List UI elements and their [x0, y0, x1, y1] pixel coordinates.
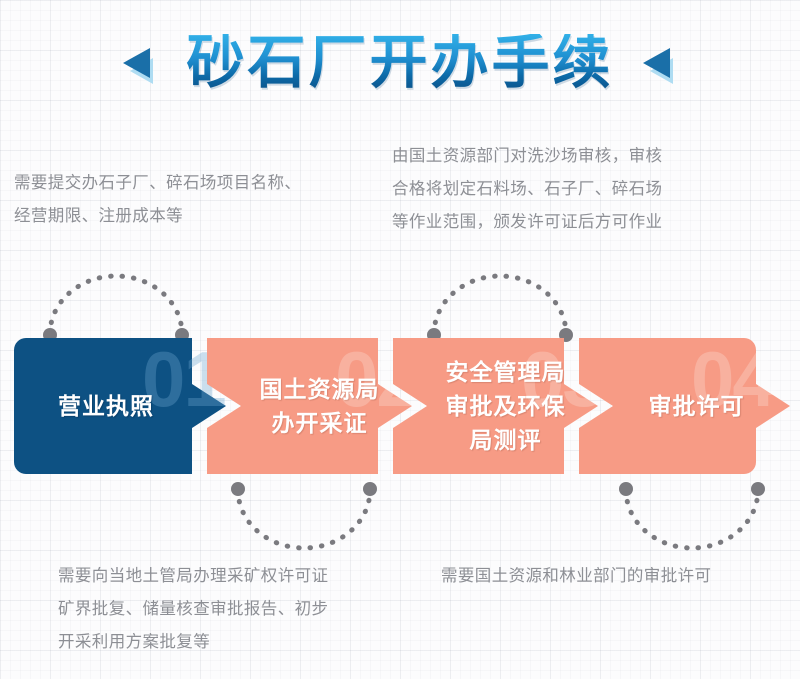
page-title: 砂石厂开办手续 [186, 34, 613, 92]
triangle-left-icon [120, 40, 160, 86]
process-step-3-label: 安全管理局 审批及环保 局测评 [416, 355, 576, 457]
triangle-left-icon-body [123, 48, 150, 78]
description-bottom-right: 需要国土资源和林业部门的审批许可 [441, 560, 791, 593]
triangle-left-icon-secondary [640, 40, 680, 86]
process-step-4-label: 审批许可 [615, 389, 755, 423]
description-top-left: 需要提交办石子厂、碎石场项目名称、 经营期限、注册成本等 [14, 167, 374, 233]
triangle-left-icon-secondary-body [643, 48, 670, 78]
infographic-page: 砂石厂开办手续 需要提交办石子厂、碎石场项目名称、 经营期限、注册成本等 由国土… [0, 0, 800, 679]
process-step-2[interactable]: 02 国土资源局 办开采证 [207, 338, 412, 474]
process-flow-bar: 01 营业执照 02 国土资源局 办开采证 03 安全管理局 审批及环保 局测评… [0, 338, 800, 474]
process-step-2-label: 国土资源局 办开采证 [230, 372, 390, 440]
process-step-1[interactable]: 01 营业执照 [14, 338, 226, 474]
arc-bottom-right-connector [612, 482, 772, 562]
arc-top-left-connector [36, 262, 196, 342]
process-step-3[interactable]: 03 安全管理局 审批及环保 局测评 [393, 338, 598, 474]
arc-bottom-left-connector [224, 482, 384, 562]
page-title-row: 砂石厂开办手续 [0, 22, 800, 104]
process-step-4[interactable]: 04 审批许可 [579, 338, 790, 474]
description-top-right: 由国土资源部门对洗沙场审核，审核 合格将划定石料场、石子厂、碎石场 等作业范围，… [392, 140, 742, 239]
process-step-1-label: 营业执照 [58, 389, 182, 423]
arc-top-right-connector [420, 262, 580, 342]
description-bottom-left: 需要向当地土管局办理采矿权许可证 矿界批复、储量核查审批报告、初步 开采利用方案… [58, 560, 408, 659]
